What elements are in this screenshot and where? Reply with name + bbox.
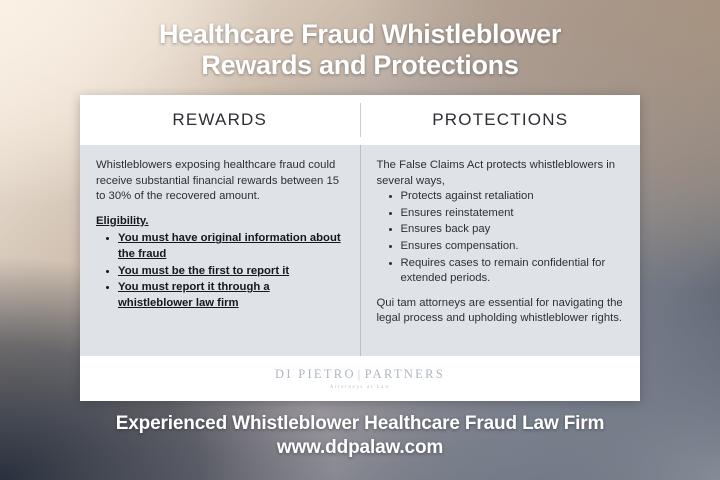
protections-outro-text: Qui tam attorneys are essential for navi… <box>377 296 625 327</box>
eligibility-item-text: You must have original information about… <box>118 232 341 260</box>
protections-list: Protects against retaliation Ensures rei… <box>377 189 625 287</box>
column-header-rewards: REWARDS <box>80 95 360 145</box>
eligibility-item-text: You must be the first to report it <box>118 265 289 277</box>
list-item: You must be the first to report it <box>118 264 344 280</box>
eligibility-item-text: You must report it through a whistleblow… <box>118 281 270 309</box>
list-item: Requires cases to remain confidential fo… <box>401 256 625 287</box>
eligibility-label: Eligibility. <box>96 214 344 230</box>
footer: Experienced Whistleblower Healthcare Fra… <box>0 412 720 460</box>
list-item: You must have original information about… <box>118 231 344 262</box>
firm-logo-name-left: DI PIETRO <box>275 367 356 381</box>
logo-band: DI PIETRO|PARTNERS Attorneys at Law <box>80 356 640 401</box>
firm-logo-name-right: PARTNERS <box>365 367 445 381</box>
page-title-line-1: Healthcare Fraud Whistleblower <box>159 19 561 49</box>
infographic-canvas: Healthcare Fraud Whistleblower Rewards a… <box>0 0 720 480</box>
card-body-row: Whistleblowers exposing healthcare fraud… <box>80 145 640 356</box>
footer-url: www.ddpalaw.com <box>0 436 720 460</box>
rewards-intro-text: Whistleblowers exposing healthcare fraud… <box>96 158 344 205</box>
list-item: Ensures compensation. <box>401 239 625 255</box>
comparison-card: REWARDS PROTECTIONS Whistleblowers expos… <box>80 95 640 401</box>
page-title: Healthcare Fraud Whistleblower Rewards a… <box>0 19 720 81</box>
rewards-column: Whistleblowers exposing healthcare fraud… <box>80 145 360 356</box>
firm-logo-tagline: Attorneys at Law <box>330 385 390 390</box>
protections-column: The False Claims Act protects whistleblo… <box>361 145 641 356</box>
column-header-protections: PROTECTIONS <box>361 95 641 145</box>
page-title-line-2: Rewards and Protections <box>0 50 720 81</box>
list-item: Ensures back pay <box>401 222 625 238</box>
firm-logo-divider: | <box>356 367 365 381</box>
list-item: You must report it through a whistleblow… <box>118 280 344 311</box>
list-item: Ensures reinstatement <box>401 206 625 222</box>
card-header-row: REWARDS PROTECTIONS <box>80 95 640 145</box>
protections-intro-text: The False Claims Act protects whistleblo… <box>377 158 625 189</box>
list-item: Protects against retaliation <box>401 189 625 205</box>
firm-logo: DI PIETRO|PARTNERS <box>275 367 445 382</box>
footer-tagline: Experienced Whistleblower Healthcare Fra… <box>116 413 605 434</box>
eligibility-list: You must have original information about… <box>96 231 344 311</box>
